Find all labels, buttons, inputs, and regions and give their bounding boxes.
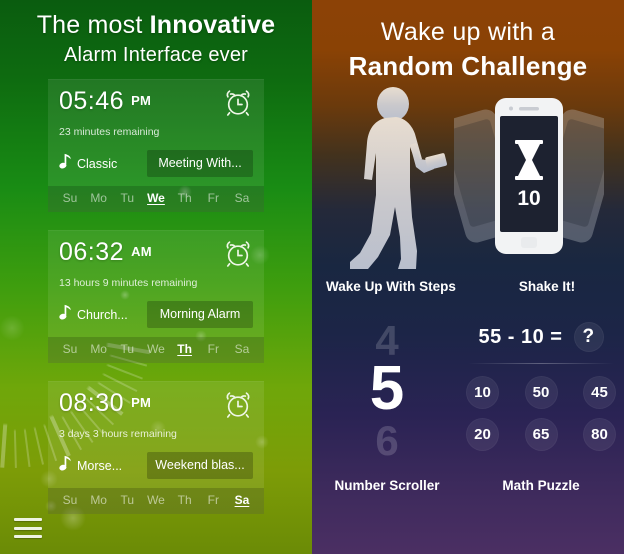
- headline-line-2: Alarm Interface ever: [0, 41, 312, 69]
- caption-shake-it: Shake It!: [470, 279, 624, 294]
- alarm-sound-name[interactable]: Church...: [77, 308, 128, 322]
- alarm-sound-name[interactable]: Classic: [77, 157, 117, 171]
- headline-line-1: The most Innovative: [0, 9, 312, 41]
- math-answer-slot[interactable]: ?: [574, 322, 604, 352]
- alarm-card[interactable]: 06:32AM13 hours 9 minutes remainingChurc…: [48, 230, 264, 363]
- alarm-clock-icon[interactable]: [223, 389, 253, 424]
- day-toggle-sa[interactable]: Sa: [231, 493, 253, 507]
- day-toggle-fr[interactable]: Fr: [202, 493, 224, 507]
- day-toggle-tu[interactable]: Tu: [116, 493, 138, 507]
- alarm-time: 05:46: [59, 88, 124, 114]
- right-headline-line-2: Random Challenge: [312, 49, 624, 83]
- alarm-remaining: 23 minutes remaining: [59, 126, 253, 139]
- day-toggle-su[interactable]: Su: [59, 493, 81, 507]
- headline-plain: The most: [37, 11, 150, 39]
- alarm-ampm: PM: [131, 93, 151, 108]
- math-option-50[interactable]: 50: [525, 376, 558, 409]
- divider: [468, 363, 614, 364]
- lower-challenges: 4 5 6 55 - 10 = ? 105045 206580: [312, 318, 624, 462]
- math-option-80[interactable]: 80: [583, 418, 616, 451]
- alarm-sound-name[interactable]: Morse...: [77, 459, 122, 473]
- day-toggle-mo[interactable]: Mo: [88, 191, 110, 205]
- challenge-captions: Wake Up With Steps Shake It!: [312, 279, 624, 294]
- music-note-icon: [59, 304, 72, 325]
- alarm-ampm: AM: [131, 244, 152, 259]
- day-toggle-mo[interactable]: Mo: [88, 342, 110, 356]
- day-toggle-th[interactable]: Th: [174, 342, 196, 356]
- alarm-card[interactable]: 05:46PM23 minutes remainingClassicMeetin…: [48, 79, 264, 212]
- headline-emphasis: Innovative: [150, 11, 276, 39]
- day-toggle-tu[interactable]: Tu: [116, 191, 138, 205]
- caption-number-scroller: Number Scroller: [312, 478, 462, 493]
- hamburger-bar: [14, 535, 42, 538]
- math-question: 55 - 10 =: [478, 326, 562, 349]
- alarm-time: 06:32: [59, 239, 124, 265]
- day-toggle-th[interactable]: Th: [174, 493, 196, 507]
- math-option-65[interactable]: 65: [525, 418, 558, 451]
- alarm-list: 05:46PM23 minutes remainingClassicMeetin…: [0, 79, 312, 514]
- alarm-sound-row: Morse...Weekend blas...: [59, 452, 253, 488]
- alarm-days-row: SuMoTuWeThFrSa: [48, 186, 264, 212]
- math-option-45[interactable]: 45: [583, 376, 616, 409]
- shaking-phones-icon: 10: [454, 91, 604, 276]
- day-toggle-fr[interactable]: Fr: [202, 191, 224, 205]
- promo-screenshot: The most Innovative Alarm Interface ever…: [0, 0, 624, 554]
- alarm-label-chip[interactable]: Morning Alarm: [147, 301, 253, 328]
- day-toggle-we[interactable]: We: [145, 342, 167, 356]
- music-note-icon: [59, 153, 72, 174]
- caption-wake-up-with-steps: Wake Up With Steps: [312, 279, 470, 294]
- lower-captions: Number Scroller Math Puzzle: [312, 478, 624, 493]
- day-toggle-we[interactable]: We: [145, 191, 167, 205]
- music-note-icon: [59, 455, 72, 476]
- day-toggle-su[interactable]: Su: [59, 342, 81, 356]
- alarm-days-row: SuMoTuWeThFrSa: [48, 337, 264, 363]
- alarm-body: 05:46PM23 minutes remainingClassicMeetin…: [48, 79, 264, 186]
- math-equation: 55 - 10 = ?: [462, 322, 620, 352]
- day-toggle-we[interactable]: We: [145, 493, 167, 507]
- right-headline: Wake up with a Random Challenge: [312, 0, 624, 83]
- day-toggle-th[interactable]: Th: [174, 191, 196, 205]
- day-toggle-sa[interactable]: Sa: [231, 342, 253, 356]
- alarm-time-row: 06:32AM: [59, 239, 253, 273]
- day-toggle-mo[interactable]: Mo: [88, 493, 110, 507]
- alarm-time-row: 08:30PM: [59, 390, 253, 424]
- alarm-body: 08:30PM3 days 3 hours remainingMorse...W…: [48, 381, 264, 488]
- number-scroller[interactable]: 4 5 6: [312, 318, 462, 462]
- alarm-time: 08:30: [59, 390, 124, 416]
- left-headline: The most Innovative Alarm Interface ever: [0, 0, 312, 69]
- challenge-panel: Wake up with a Random Challenge: [312, 0, 624, 554]
- alarm-clock-icon[interactable]: [223, 238, 253, 273]
- alarm-days-row: SuMoTuWeThFrSa: [48, 488, 264, 514]
- alarm-card[interactable]: 08:30PM3 days 3 hours remainingMorse...W…: [48, 381, 264, 514]
- alarm-ampm: PM: [131, 395, 151, 410]
- alarm-label-chip[interactable]: Meeting With...: [147, 150, 253, 177]
- math-puzzle: 55 - 10 = ? 105045 206580: [462, 318, 624, 462]
- hamburger-bar: [14, 518, 42, 521]
- alarm-time-row: 05:46PM: [59, 88, 253, 122]
- day-toggle-su[interactable]: Su: [59, 191, 81, 205]
- alarm-remaining: 13 hours 9 minutes remaining: [59, 277, 253, 290]
- challenge-illustrations: 10: [312, 87, 624, 277]
- math-option-20[interactable]: 20: [466, 418, 499, 451]
- scroller-selected-value: 5: [312, 358, 462, 420]
- alarm-sound-row: ClassicMeeting With...: [59, 150, 253, 186]
- scroller-next-value: 6: [312, 420, 462, 462]
- walking-person-icon: [338, 87, 458, 278]
- svg-text:10: 10: [517, 187, 540, 210]
- day-toggle-tu[interactable]: Tu: [116, 342, 138, 356]
- math-option-row: 206580: [462, 418, 620, 451]
- day-toggle-fr[interactable]: Fr: [202, 342, 224, 356]
- alarm-label-chip[interactable]: Weekend blas...: [147, 452, 253, 479]
- day-toggle-sa[interactable]: Sa: [231, 191, 253, 205]
- caption-math-puzzle: Math Puzzle: [462, 478, 624, 493]
- alarm-body: 06:32AM13 hours 9 minutes remainingChurc…: [48, 230, 264, 337]
- hamburger-menu-icon[interactable]: [14, 518, 42, 538]
- alarm-clock-icon[interactable]: [223, 87, 253, 122]
- alarm-sound-row: Church...Morning Alarm: [59, 301, 253, 337]
- alarm-remaining: 3 days 3 hours remaining: [59, 428, 253, 441]
- hamburger-bar: [14, 527, 42, 530]
- alarm-list-panel: The most Innovative Alarm Interface ever…: [0, 0, 312, 554]
- math-option-10[interactable]: 10: [466, 376, 499, 409]
- right-headline-line-1: Wake up with a: [312, 16, 624, 49]
- math-option-row: 105045: [462, 376, 620, 409]
